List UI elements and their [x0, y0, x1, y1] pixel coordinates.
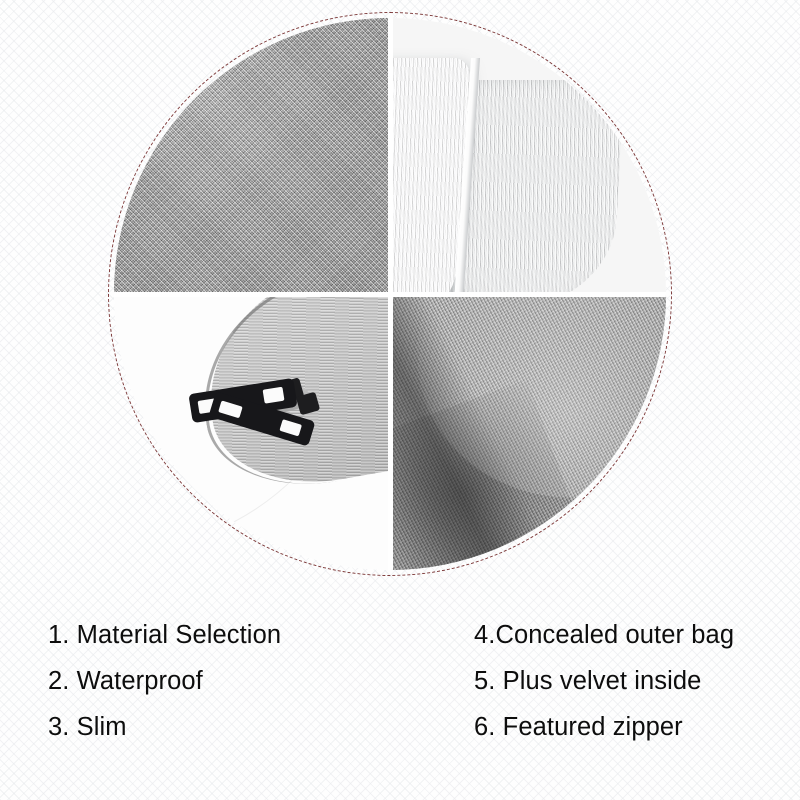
- feature-list: 1. Material Selection 2. Waterproof 3. S…: [0, 612, 800, 800]
- quadrant-divider-horizontal: [114, 292, 666, 297]
- feature-item-1: 1. Material Selection: [48, 612, 437, 658]
- left-feature-column: 1. Material Selection 2. Waterproof 3. S…: [0, 612, 437, 800]
- quadrant-featured-zipper: [114, 294, 390, 570]
- woven-fabric-texture: [114, 18, 390, 294]
- quadrant-waterproof-fleece: [390, 18, 666, 294]
- pull-tab-hole: [279, 419, 302, 436]
- feature-item-6: 6. Featured zipper: [474, 704, 800, 750]
- circular-feature-collage: [108, 12, 672, 576]
- feature-item-5: 5. Plus velvet inside: [474, 658, 800, 704]
- pull-tab-hole: [218, 400, 243, 418]
- collage-photo-disc: [114, 18, 666, 570]
- right-feature-column: 4.Concealed outer bag 5. Plus velvet ins…: [437, 612, 800, 800]
- quadrant-folded-fabric: [390, 294, 666, 570]
- feature-item-4: 4.Concealed outer bag: [474, 612, 800, 658]
- feature-item-3: 3. Slim: [48, 704, 437, 750]
- feature-item-2: 2. Waterproof: [48, 658, 437, 704]
- pull-tab-hole: [263, 387, 285, 404]
- quadrant-material-selection: [114, 18, 390, 294]
- infographic-page: 1. Material Selection 2. Waterproof 3. S…: [0, 0, 800, 800]
